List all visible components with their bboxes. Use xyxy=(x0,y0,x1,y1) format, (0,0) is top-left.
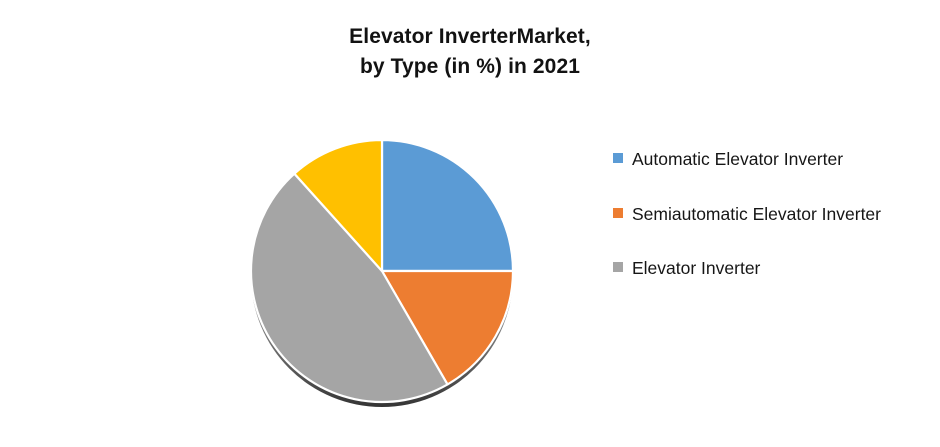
legend-swatch-square-icon xyxy=(613,153,623,163)
chart-page: Elevator InverterMarket, by Type (in %) … xyxy=(0,0,940,447)
pie-chart xyxy=(235,128,535,418)
legend-item-semiautomatic-elevator-inverter[interactable]: Semiautomatic Elevator Inverter xyxy=(613,201,923,228)
legend-item-elevator-inverter[interactable]: Elevator Inverter xyxy=(613,255,923,282)
chart-title-line-1: Elevator InverterMarket, xyxy=(0,22,940,52)
legend-label: Semiautomatic Elevator Inverter xyxy=(632,201,881,228)
pie-chart-svg xyxy=(235,128,535,418)
legend-swatch-square-icon xyxy=(613,262,623,272)
legend-item-automatic-elevator-inverter[interactable]: Automatic Elevator Inverter xyxy=(613,146,923,173)
chart-title-line-2: by Type (in %) in 2021 xyxy=(0,52,940,82)
legend-label: Elevator Inverter xyxy=(632,255,760,282)
pie-slice-group xyxy=(251,140,513,402)
legend-label: Automatic Elevator Inverter xyxy=(632,146,843,173)
chart-legend: Automatic Elevator Inverter Semiautomati… xyxy=(613,146,923,282)
chart-title: Elevator InverterMarket, by Type (in %) … xyxy=(0,22,940,83)
legend-swatch-square-icon xyxy=(613,208,623,218)
pie-slice[interactable] xyxy=(382,140,513,271)
